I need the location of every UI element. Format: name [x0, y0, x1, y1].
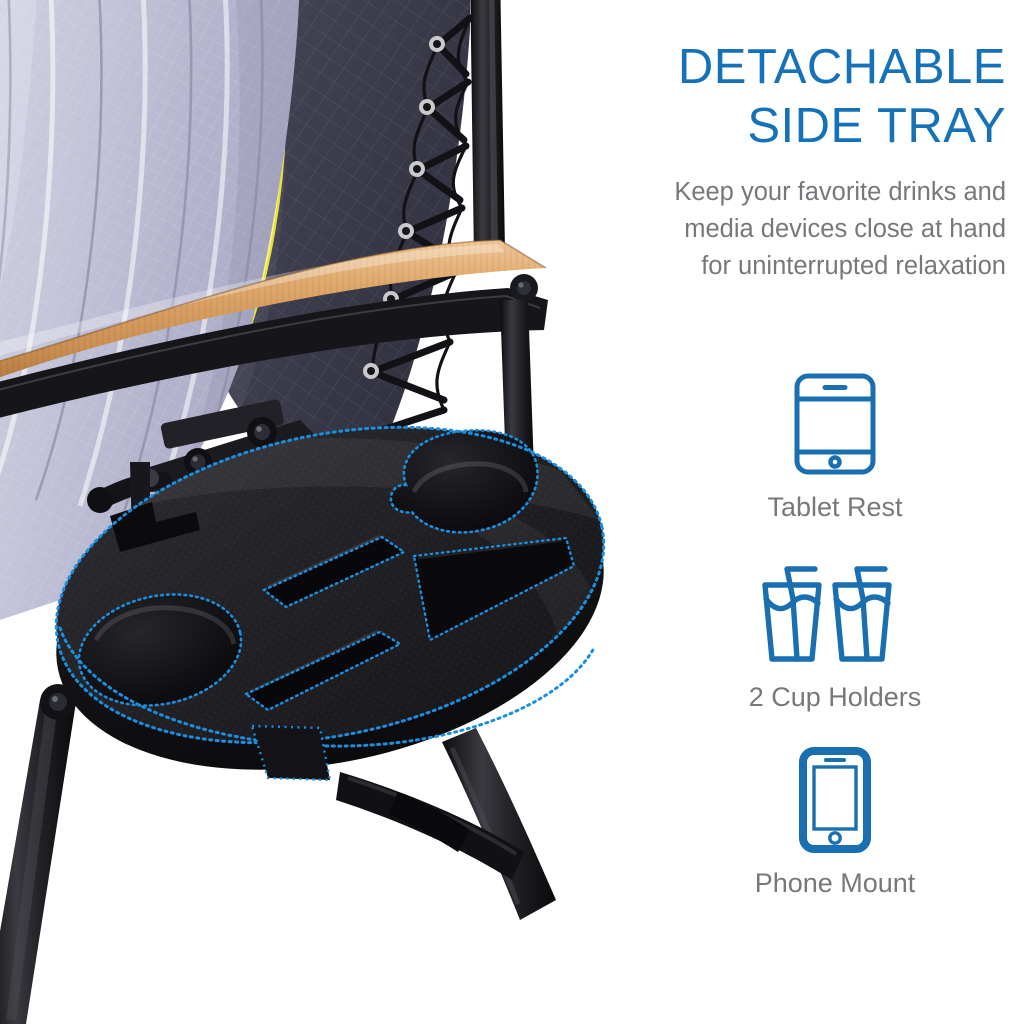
- chair-frame-upright: [470, 0, 505, 268]
- page-title: DETACHABLE SIDE TRAY: [560, 38, 1006, 156]
- two-cups-icon: [690, 550, 980, 678]
- headline-line-2: SIDE TRAY: [560, 97, 1006, 156]
- product-feature-banner: DETACHABLE SIDE TRAY Keep your favorite …: [0, 0, 1024, 1024]
- subcopy-line-2: media devices close at hand: [560, 211, 1006, 248]
- feature-list: Tablet Rest: [690, 360, 980, 906]
- feature-label-phone-mount: Phone Mount: [690, 866, 980, 900]
- feature-label-tablet-rest: Tablet Rest: [690, 490, 980, 524]
- feature-label-cup-holders: 2 Cup Holders: [690, 680, 980, 714]
- subcopy-line-3: for uninterrupted relaxation: [560, 248, 1006, 285]
- feature-item-cup-holders: 2 Cup Holders: [690, 550, 980, 714]
- phone-icon: [690, 736, 980, 864]
- marketing-copy-block: DETACHABLE SIDE TRAY Keep your favorite …: [560, 38, 1006, 285]
- headline-line-1: DETACHABLE: [678, 40, 1006, 94]
- feature-item-phone-mount: Phone Mount: [690, 736, 980, 900]
- subcopy: Keep your favorite drinks and media devi…: [560, 174, 1006, 285]
- tablet-icon: [690, 360, 980, 488]
- feature-item-tablet-rest: Tablet Rest: [690, 360, 980, 524]
- subcopy-line-1: Keep your favorite drinks and: [560, 174, 1006, 211]
